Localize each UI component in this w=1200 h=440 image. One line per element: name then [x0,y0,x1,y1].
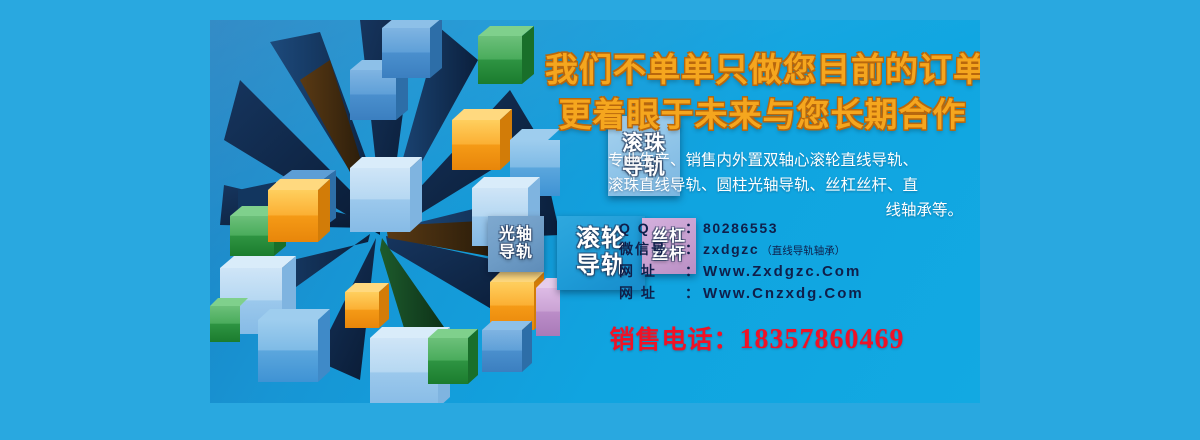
description-line-1: 专业生产、销售内外置双轴心滚轮直线导轨、 [563,148,963,173]
cube-burst-artwork [210,20,560,403]
sales-phone-number[interactable]: 18357860469 [740,324,905,355]
product-label-guangzhou-daogui[interactable]: 光轴 导轨 [488,216,544,272]
contact-colon: ： [685,283,699,304]
headline-line-2: 更着眼于未来与您长期合作 [545,93,980,138]
description-line-2: 滚珠直线导轨、圆柱光轴导轨、丝杠丝杆、直 [563,173,963,198]
contact-row-wechat: 微信号 ： zxdgzc （直线导轨轴承） [619,239,949,260]
contact-key: 微信号 [619,239,685,260]
headline: 我们不单单只做您目前的订单 更着眼于未来与您长期合作 [545,48,980,137]
contact-key: Q Q [619,218,685,239]
contact-note-wechat: （直线导轨轴承） [761,244,845,260]
contact-key: 网 址 [619,283,685,304]
sales-phone-label: 销售电话： [609,326,739,354]
promo-banner: 滚珠 导轨 光轴 导轨 滚轮 导轨 丝杠 丝杆 我们不单单只做您目 [0,0,1200,440]
label-line-1: 光轴 [499,226,533,244]
contact-colon: ： [685,261,699,282]
contact-key: 网 址 [619,261,685,282]
contact-colon: ： [685,218,699,239]
label-line-2: 导轨 [499,244,533,262]
contact-value-website-2[interactable]: Www.Cnzxdg.Com [703,283,864,306]
banner-panel: 滚珠 导轨 光轴 导轨 滚轮 导轨 丝杠 丝杆 我们不单单只做您目 [210,20,980,403]
contact-row-website-2: 网 址 ： Www.Cnzxdg.Com [619,283,949,306]
description: 专业生产、销售内外置双轴心滚轮直线导轨、 滚珠直线导轨、圆柱光轴导轨、丝杠丝杆、… [563,148,963,223]
contact-value-website-1[interactable]: Www.Zxdgzc.Com [703,261,861,284]
contact-value-qq[interactable]: 80286553 [703,218,778,239]
sales-phone[interactable]: 销售电话：18357860469 [537,320,977,356]
banner-content: 我们不单单只做您目前的订单 更着眼于未来与您长期合作 专业生产、销售内外置双轴心… [545,20,980,403]
contact-row-qq: Q Q ： 80286553 [619,218,949,239]
contact-value-wechat[interactable]: zxdgzc [703,239,759,260]
contact-colon: ： [685,239,699,260]
contact-row-website-1: 网 址 ： Www.Zxdgzc.Com [619,261,949,284]
contact-block: Q Q ： 80286553 微信号 ： zxdgzc （直线导轨轴承） 网 址… [619,218,949,306]
headline-line-1: 我们不单单只做您目前的订单 [545,48,980,93]
